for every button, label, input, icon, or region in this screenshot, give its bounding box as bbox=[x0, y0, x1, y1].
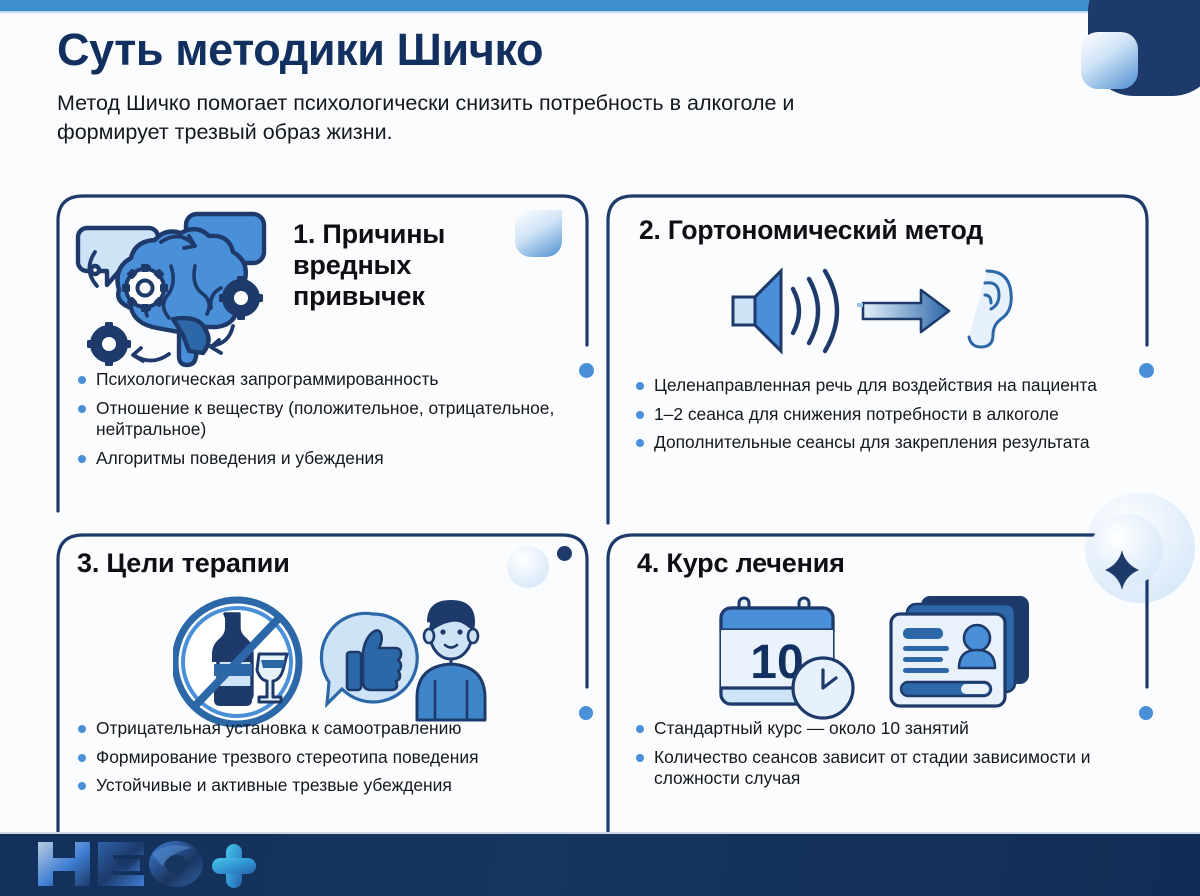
calendar-clock-cards-icon: 10 bbox=[715, 590, 1035, 735]
list-item: Психологическая запрограммированность bbox=[77, 369, 569, 391]
card-2-title: 2. Гортономический метод bbox=[639, 215, 1129, 245]
card-2: 2. Гортономический метод bbox=[605, 193, 1150, 523]
card-4-dot-decoration bbox=[1139, 706, 1153, 720]
top-accent-band bbox=[0, 0, 1200, 11]
list-item: Формирование трезвого стереотипа поведен… bbox=[77, 747, 577, 769]
list-item: 1–2 сеанса для снижения потребности в ал… bbox=[635, 404, 1125, 426]
card-3-dot-decoration bbox=[579, 706, 593, 720]
speaker-arrow-ear-icon bbox=[723, 261, 1023, 366]
card-1-bullets: Психологическая запрограммированность От… bbox=[77, 369, 569, 476]
card-4: 4. Курс лечения 10 bbox=[605, 532, 1150, 852]
card-1-title: 1. Причины вредных привычек bbox=[293, 219, 523, 311]
infographic-page: Суть методики Шичко Метод Шичко помогает… bbox=[0, 0, 1200, 896]
list-item: Количество сеансов зависит от стадии зав… bbox=[635, 747, 1125, 790]
list-item: Алгоритмы поведения и убеждения bbox=[77, 448, 569, 470]
page-subtitle: Метод Шичко помогает психологически сниз… bbox=[57, 89, 897, 147]
card-3-bullets: Отрицательная установка к самоотравлению… bbox=[77, 718, 577, 804]
list-item: Целенаправленная речь для воздействия на… bbox=[635, 375, 1125, 397]
footer-top-divider bbox=[0, 832, 1200, 834]
card-2-dot-decoration bbox=[1139, 363, 1154, 378]
card-3: 3. Цели терапии bbox=[55, 532, 590, 852]
brain-gears-speech-bubbles-icon bbox=[73, 206, 273, 379]
sparkle-icon bbox=[1105, 550, 1139, 595]
header: Суть методики Шичко Метод Шичко помогает… bbox=[57, 26, 937, 148]
card-4-bullets: Стандартный курс — около 10 занятий Коли… bbox=[635, 718, 1125, 797]
card-2-bullets: Целенаправленная речь для воздействия на… bbox=[635, 375, 1125, 461]
footer bbox=[0, 832, 1200, 896]
gradient-square-decoration bbox=[1081, 32, 1138, 89]
card-3-navy-dot-decoration bbox=[557, 546, 572, 561]
top-band-shadow bbox=[0, 11, 1200, 14]
list-item: Отрицательная установка к самоотравлению bbox=[77, 718, 577, 740]
brand-logo bbox=[32, 836, 272, 896]
card-4-title: 4. Курс лечения bbox=[637, 548, 1077, 579]
list-item: Устойчивые и активные трезвые убеждения bbox=[77, 775, 577, 797]
card-1: 1. Причины вредных привычек Психологичес… bbox=[55, 193, 590, 511]
card-1-dot-decoration bbox=[579, 363, 594, 378]
card-3-title: 3. Цели терапии bbox=[77, 548, 517, 579]
page-title: Суть методики Шичко bbox=[57, 26, 937, 73]
list-item: Отношение к веществу (положительное, отр… bbox=[77, 398, 569, 441]
list-item: Дополнительные сеансы для закрепления ре… bbox=[635, 432, 1125, 454]
list-item: Стандартный курс — около 10 занятий bbox=[635, 718, 1125, 740]
